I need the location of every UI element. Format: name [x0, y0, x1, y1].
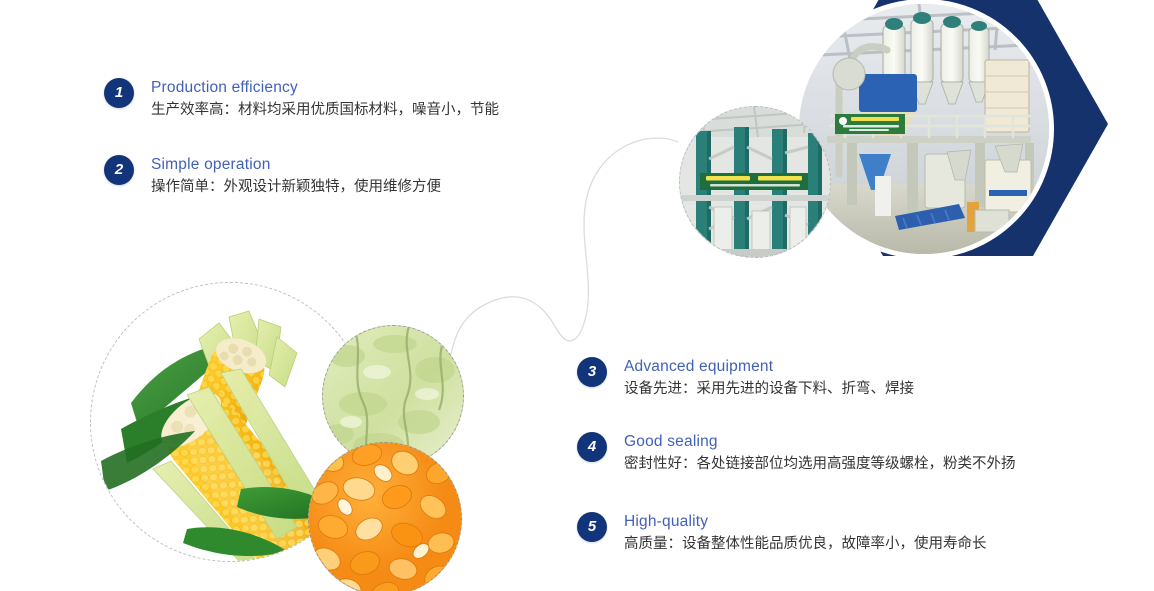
feature-item-5[interactable]: 5 High-quality 高质量：设备整体性能品质优良，故障率小，使用寿命长 [577, 512, 987, 555]
feature-item-4[interactable]: 4 Good sealing 密封性好：各处链接部位均选用高强度等级螺栓，粉类不… [577, 432, 1016, 475]
feature-title: Good sealing [624, 432, 1016, 452]
corn-grits-photo [308, 442, 462, 591]
factory-image-group [660, 0, 1080, 272]
feature-title: Simple operation [151, 155, 441, 175]
feature-number-badge: 3 [577, 357, 607, 387]
feature-number-badge: 2 [104, 155, 134, 185]
feature-description: 高质量：设备整体性能品质优良，故障率小，使用寿命长 [624, 533, 987, 555]
feature-description: 密封性好：各处链接部位均选用高强度等级螺栓，粉类不外扬 [624, 453, 1016, 475]
machinery-secondary-photo [679, 106, 831, 258]
feature-title: Advanced equipment [624, 357, 914, 377]
feature-number-badge: 5 [577, 512, 607, 542]
feature-number-badge: 4 [577, 432, 607, 462]
feature-description: 设备先进：采用先进的设备下料、折弯、焊接 [624, 378, 914, 400]
feature-item-3[interactable]: 3 Advanced equipment 设备先进：采用先进的设备下料、折弯、焊… [577, 357, 914, 400]
feature-item-2[interactable]: 2 Simple operation 操作简单：外观设计新颖独特，使用维修方便 [104, 155, 441, 198]
feature-description: 操作简单：外观设计新颖独特，使用维修方便 [151, 176, 441, 198]
feature-number-badge: 1 [104, 78, 134, 108]
infographic-canvas: 1 Production efficiency 生产效率高：材料均采用优质国标材… [0, 0, 1154, 591]
feature-title: High-quality [624, 512, 987, 532]
corn-image-group [90, 282, 510, 591]
feature-title: Production efficiency [151, 78, 499, 98]
factory-main-photo [794, 0, 1054, 259]
feature-description: 生产效率高：材料均采用优质国标材料，噪音小，节能 [151, 99, 499, 121]
feature-item-1[interactable]: 1 Production efficiency 生产效率高：材料均采用优质国标材… [104, 78, 499, 121]
